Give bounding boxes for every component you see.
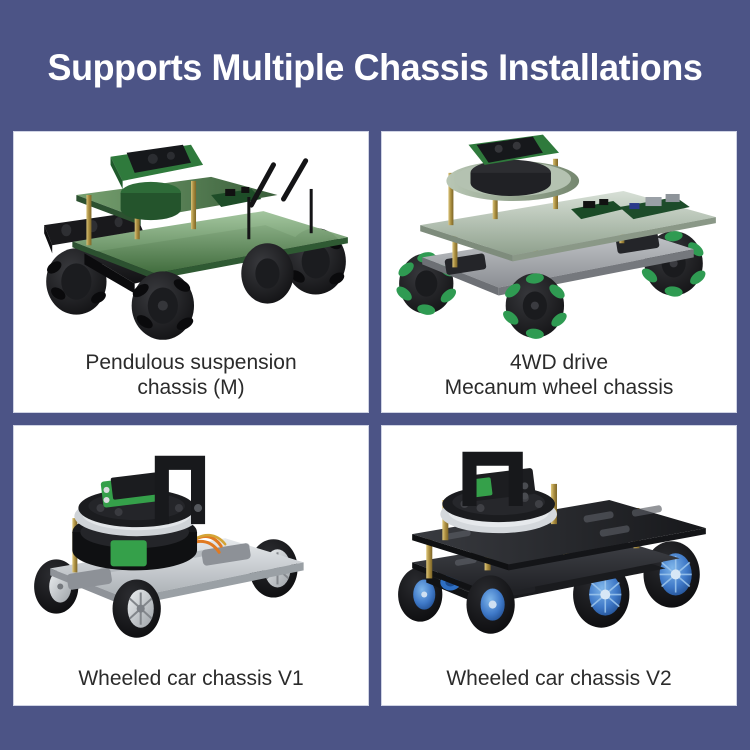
chassis-card-grid: Pendulous suspension chassis (M): [13, 131, 737, 706]
camera-bracket: [155, 455, 205, 523]
wheel-front-right: [241, 243, 293, 303]
page-title: Supports Multiple Chassis Installations: [11, 46, 739, 90]
chassis-card-wheeled-v2[interactable]: Wheeled car chassis V2: [381, 425, 737, 707]
chassis-caption-pendulous-suspension: Pendulous suspension chassis (M): [14, 350, 368, 412]
marketing-image: Supports Multiple Chassis Installations: [0, 0, 750, 750]
chassis-caption-mecanum: 4WD drive Mecanum wheel chassis: [382, 350, 736, 412]
chassis-caption-wheeled-v1: Wheeled car chassis V1: [14, 666, 368, 705]
chassis-caption-wheeled-v2: Wheeled car chassis V2: [382, 666, 736, 705]
robot-photo-mecanum-wheel-chassis: [382, 132, 736, 350]
robot-photo-wheeled-car-chassis-v1: [14, 426, 368, 667]
chassis-card-mecanum[interactable]: 4WD drive Mecanum wheel chassis: [381, 131, 737, 413]
robot-photo-wheeled-car-chassis-v2: [382, 426, 736, 667]
wheel-front-left: [466, 575, 514, 633]
chassis-card-pendulous-suspension[interactable]: Pendulous suspension chassis (M): [13, 131, 369, 413]
lidar-module: [466, 467, 535, 501]
chassis-card-wheeled-v1[interactable]: Wheeled car chassis V1: [13, 425, 369, 707]
wheel-front-left: [113, 579, 161, 637]
robot-photo-pendulous-suspension-chassis: [14, 132, 368, 350]
